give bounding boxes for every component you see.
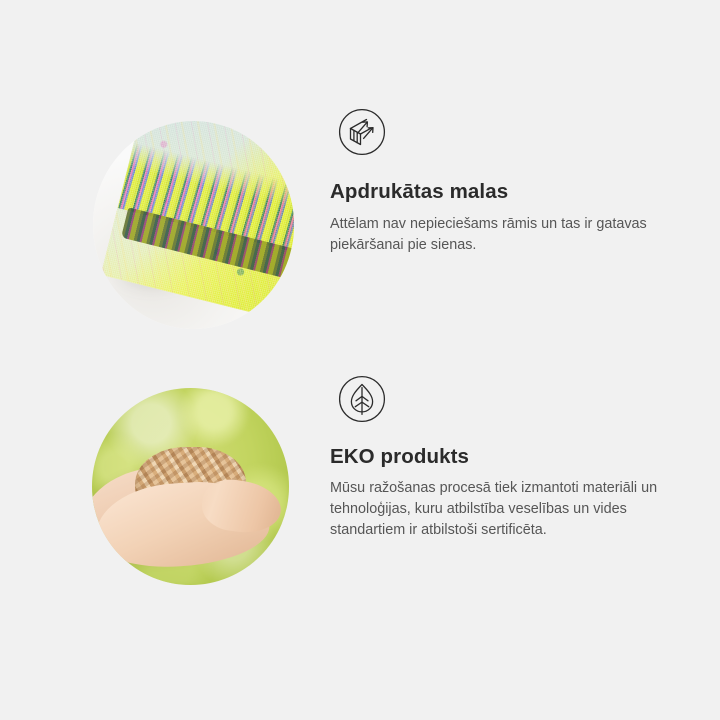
canvas-corner-photo xyxy=(93,121,294,329)
media-column xyxy=(0,375,330,615)
feature-description: Attēlam nav nepieciešams rāmis un tas ir… xyxy=(330,214,670,256)
canvas-wrapped-edge-icon xyxy=(338,108,386,156)
feature-title: Apdrukātas malas xyxy=(330,180,720,204)
text-column: EKO produkts Mūsu ražošanas procesā tiek… xyxy=(330,375,720,541)
media-column xyxy=(0,108,330,348)
feature-description: Mūsu ražošanas procesā tiek izmantoti ma… xyxy=(330,478,670,541)
feature-printed-edges: Apdrukātas malas Attēlam nav nepieciešam… xyxy=(0,108,720,348)
text-column: Apdrukātas malas Attēlam nav nepieciešam… xyxy=(330,108,720,256)
feature-eco-product: EKO produkts Mūsu ražošanas procesā tiek… xyxy=(0,375,720,615)
leaf-icon xyxy=(338,375,386,423)
feature-list: Apdrukātas malas Attēlam nav nepieciešam… xyxy=(0,0,720,720)
wood-chips-in-hands-photo xyxy=(92,388,289,585)
feature-title: EKO produkts xyxy=(330,445,720,469)
